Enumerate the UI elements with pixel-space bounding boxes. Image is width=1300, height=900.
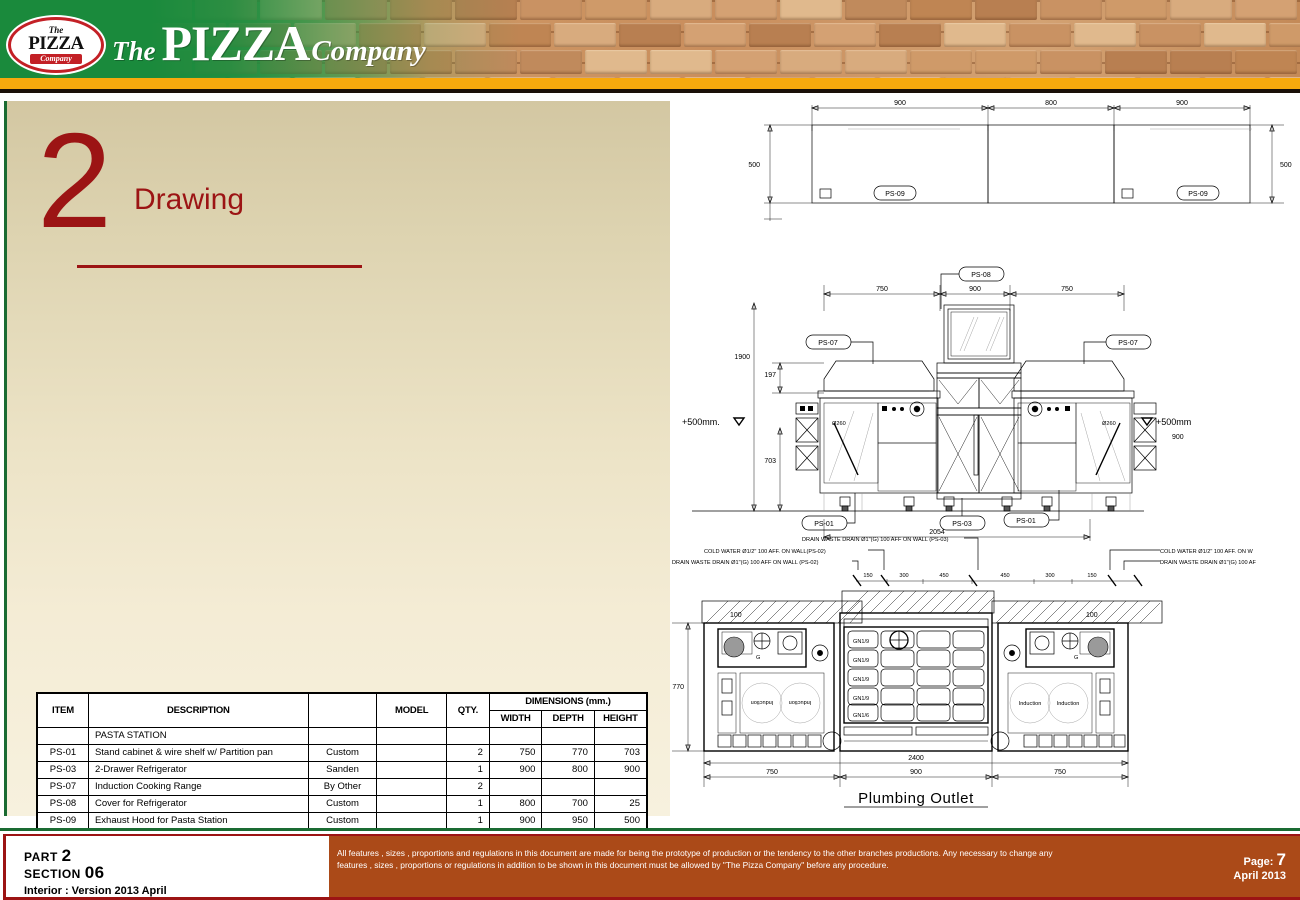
brick-tile bbox=[619, 23, 681, 47]
brick-tile bbox=[975, 50, 1037, 74]
technical-drawing-panel: 900 800 900 500 500 bbox=[672, 93, 1300, 828]
brick-tile bbox=[650, 50, 712, 74]
plan-induction-left-2: Induction bbox=[789, 699, 812, 705]
brand-wordmark: The PIZZA Company bbox=[112, 14, 426, 70]
col-model: MODEL bbox=[377, 693, 447, 727]
cell-height: 703 bbox=[594, 744, 647, 761]
plumb-dim-150-left: 150 bbox=[863, 573, 872, 579]
footer-section-value: 06 bbox=[85, 863, 105, 882]
table-row-group: PASTA STATION bbox=[37, 727, 647, 744]
elev-tag-ps01-right: PS-01 bbox=[1016, 518, 1036, 525]
cell-depth bbox=[542, 727, 595, 744]
logo-company-text: Company bbox=[30, 54, 82, 65]
col-depth: DEPTH bbox=[542, 710, 595, 727]
elev-level-right: +500mm bbox=[1156, 417, 1191, 427]
page-label: Page: bbox=[1244, 856, 1274, 868]
cell-item: PS-07 bbox=[37, 778, 88, 795]
page-header: The PIZZA Company The PIZZA Company bbox=[0, 0, 1300, 93]
cell-width: 900 bbox=[489, 812, 542, 829]
brick-tile bbox=[1204, 23, 1266, 47]
brick-tile bbox=[1139, 23, 1201, 47]
page-footer: PART 2 SECTION 06 Interior : Version 201… bbox=[0, 828, 1300, 900]
table-row: PS-09Exhaust Hood for Pasta StationCusto… bbox=[37, 812, 647, 829]
elev-tag-ps03: PS-03 bbox=[952, 521, 972, 528]
col-description: DESCRIPTION bbox=[88, 693, 308, 727]
hood-tag-ps09-right: PS-09 bbox=[1188, 191, 1208, 198]
wordmark-the: The bbox=[112, 36, 156, 67]
footer-disclaimer-bar: All features , sizes , proportions and r… bbox=[329, 834, 1300, 900]
cell-brand: By Other bbox=[308, 778, 377, 795]
brick-tile bbox=[684, 23, 746, 47]
note-drain-ps03: DRAIN WASTE DRAIN Ø1"(G) 100 AFF ON WALL… bbox=[802, 537, 949, 543]
plumb-dim-450-right: 450 bbox=[1000, 573, 1009, 579]
cell-depth: 700 bbox=[542, 795, 595, 812]
cell-width bbox=[489, 727, 542, 744]
cell-height: 25 bbox=[594, 795, 647, 812]
plan-induction-left-1: Induction bbox=[751, 699, 774, 705]
cell-item: PS-01 bbox=[37, 744, 88, 761]
col-dimensions: DIMENSIONS (mm.) bbox=[489, 693, 647, 710]
cell-width: 900 bbox=[489, 761, 542, 778]
brick-tile bbox=[554, 23, 616, 47]
brick-tile bbox=[650, 0, 712, 20]
hood-dim-900-right: 900 bbox=[1176, 100, 1188, 107]
cell-qty: 1 bbox=[447, 761, 490, 778]
elev-tag-ps07-left: PS-07 bbox=[818, 340, 838, 347]
elev-height-1900: 1900 bbox=[734, 354, 750, 361]
elev-overall-width: 2054 bbox=[929, 529, 945, 536]
cell-qty bbox=[447, 727, 490, 744]
cell-model bbox=[377, 727, 447, 744]
brick-tile bbox=[1105, 50, 1167, 74]
elev-dia-right: Ø260 bbox=[1102, 421, 1116, 427]
hood-tag-ps09-left: PS-09 bbox=[885, 191, 905, 198]
plan-overall-2400: 2400 bbox=[908, 755, 924, 762]
plan-wall-100-right: 100 bbox=[1086, 612, 1098, 619]
cell-depth: 950 bbox=[542, 812, 595, 829]
cell-description: 2-Drawer Refrigerator bbox=[88, 761, 308, 778]
brick-tile bbox=[814, 23, 876, 47]
elev-dia-left: Ø260 bbox=[832, 421, 846, 427]
brick-tile bbox=[780, 50, 842, 74]
hood-dim-800: 800 bbox=[1045, 100, 1057, 107]
plan-title: Plumbing Outlet bbox=[858, 790, 974, 807]
brick-tile bbox=[845, 50, 907, 74]
cell-item: PS-09 bbox=[37, 812, 88, 829]
cell-description: Exhaust Hood for Pasta Station bbox=[88, 812, 308, 829]
cell-height bbox=[594, 727, 647, 744]
table-row: PS-032-Drawer RefrigeratorSanden19008009… bbox=[37, 761, 647, 778]
col-item: ITEM bbox=[37, 693, 88, 727]
brick-tile bbox=[910, 0, 972, 20]
brick-tile bbox=[944, 23, 1006, 47]
cell-height: 900 bbox=[594, 761, 647, 778]
col-width: WIDTH bbox=[489, 710, 542, 727]
plan-pan-gn19-2: GN1/9 bbox=[853, 658, 869, 664]
brick-tile bbox=[520, 50, 582, 74]
brick-tile bbox=[910, 50, 972, 74]
table-row: PS-07Induction Cooking RangeBy Other2 bbox=[37, 778, 647, 795]
cell-width bbox=[489, 778, 542, 795]
table-row: PS-08Cover for RefrigeratorCustom1800700… bbox=[37, 795, 647, 812]
section-title: Drawing bbox=[134, 183, 244, 217]
cell-qty: 1 bbox=[447, 812, 490, 829]
header-orange-stripe bbox=[0, 78, 1300, 89]
cell-brand bbox=[308, 727, 377, 744]
plan-label-g-right: G bbox=[1074, 655, 1078, 661]
brick-tile bbox=[1074, 23, 1136, 47]
footer-section-label: SECTION bbox=[24, 867, 81, 881]
brick-tile bbox=[1040, 50, 1102, 74]
brick-tile bbox=[845, 0, 907, 20]
brick-tile bbox=[1235, 50, 1297, 74]
cell-brand: Custom bbox=[308, 744, 377, 761]
cell-item bbox=[37, 727, 88, 744]
cell-height: 500 bbox=[594, 812, 647, 829]
cell-width: 800 bbox=[489, 795, 542, 812]
hood-dim-900-left: 900 bbox=[894, 100, 906, 107]
col-height: HEIGHT bbox=[594, 710, 647, 727]
brick-tile bbox=[879, 23, 941, 47]
page-body: 2 Drawing ITEM DESCRIPTION MODEL QTY. DI… bbox=[0, 93, 1300, 828]
section-heading-block: 2 Drawing bbox=[37, 131, 367, 271]
cell-depth bbox=[542, 778, 595, 795]
cell-qty: 1 bbox=[447, 795, 490, 812]
plumbing-plan-drawing: 100 100 G Induction Induction bbox=[672, 591, 1162, 807]
note-drain-right: DRAIN WASTE DRAIN Ø1"(G) 100 AF bbox=[1160, 560, 1257, 566]
elev-height-197: 197 bbox=[764, 372, 776, 379]
footer-version: Interior : Version 2013 April bbox=[24, 885, 329, 897]
plan-pan-gn19-4: GN1/9 bbox=[853, 696, 869, 702]
plan-induction-right-1: Induction bbox=[1019, 701, 1042, 707]
cell-depth: 770 bbox=[542, 744, 595, 761]
cell-description: Cover for Refrigerator bbox=[88, 795, 308, 812]
elev-height-703: 703 bbox=[764, 458, 776, 465]
cell-model bbox=[377, 812, 447, 829]
cell-model bbox=[377, 761, 447, 778]
col-brand bbox=[308, 693, 377, 727]
brick-tile bbox=[1105, 0, 1167, 20]
cell-model bbox=[377, 744, 447, 761]
brick-tile bbox=[749, 23, 811, 47]
plumb-dim-150-right: 150 bbox=[1087, 573, 1096, 579]
brick-tile bbox=[1269, 23, 1300, 47]
brick-tile bbox=[520, 0, 582, 20]
elev-level-left: +500mm. bbox=[682, 417, 720, 427]
elev-dim-750-right: 750 bbox=[1061, 286, 1073, 293]
wordmark-company: Company bbox=[311, 35, 425, 68]
cell-model bbox=[377, 778, 447, 795]
plumb-dim-300-right: 300 bbox=[1045, 573, 1054, 579]
cell-item: PS-08 bbox=[37, 795, 88, 812]
table-header-row-1: ITEM DESCRIPTION MODEL QTY. DIMENSIONS (… bbox=[37, 693, 647, 710]
brick-tile bbox=[1170, 50, 1232, 74]
page-number: 7 bbox=[1277, 850, 1286, 869]
plan-dim-750-right: 750 bbox=[1054, 769, 1066, 776]
cell-group-label: PASTA STATION bbox=[88, 727, 308, 744]
footer-date: April 2013 bbox=[1233, 870, 1286, 882]
wordmark-pizza: PIZZA bbox=[162, 14, 310, 72]
hood-height-right: 500 bbox=[1280, 162, 1292, 169]
plumb-dim-300-left: 300 bbox=[899, 573, 908, 579]
plan-dim-900: 900 bbox=[910, 769, 922, 776]
cell-qty: 2 bbox=[447, 744, 490, 761]
plan-dim-750-left: 750 bbox=[766, 769, 778, 776]
brick-tile bbox=[585, 50, 647, 74]
plan-label-g-left: G bbox=[756, 655, 760, 661]
plan-induction-right-2: Induction bbox=[1057, 701, 1080, 707]
brick-tile bbox=[1170, 0, 1232, 20]
hood-plan-drawing: 900 800 900 500 500 bbox=[748, 100, 1291, 221]
elev-dim-900: 900 bbox=[969, 286, 981, 293]
hood-height-left: 500 bbox=[748, 162, 760, 169]
cell-model bbox=[377, 795, 447, 812]
cell-brand: Sanden bbox=[308, 761, 377, 778]
elev-tag-ps08: PS-08 bbox=[971, 272, 991, 279]
plan-pan-gn19-1: GN1/9 bbox=[853, 639, 869, 645]
cell-qty: 2 bbox=[447, 778, 490, 795]
cell-width: 750 bbox=[489, 744, 542, 761]
pizza-company-logo: The PIZZA Company bbox=[8, 17, 104, 73]
page-number-row: Page: 7 bbox=[1233, 850, 1286, 870]
cell-depth: 800 bbox=[542, 761, 595, 778]
plan-wall-100-left: 100 bbox=[730, 612, 742, 619]
brick-tile bbox=[585, 0, 647, 20]
plumb-dim-450-left: 450 bbox=[939, 573, 948, 579]
brick-tile bbox=[780, 0, 842, 20]
cell-brand: Custom bbox=[308, 812, 377, 829]
cell-brand: Custom bbox=[308, 795, 377, 812]
note-coldwater-right: COLD WATER Ø1/2" 100 AFF. ON W bbox=[1160, 549, 1253, 555]
cell-item: PS-03 bbox=[37, 761, 88, 778]
plan-pan-gn16: GN1/6 bbox=[853, 713, 869, 719]
disclaimer-text: All features , sizes , proportions and r… bbox=[337, 847, 1077, 871]
page-info: Page: 7 April 2013 bbox=[1233, 850, 1286, 882]
logo-pizza-text: PIZZA bbox=[28, 34, 84, 53]
brick-tile bbox=[1009, 23, 1071, 47]
cell-description: Stand cabinet & wire shelf w/ Partition … bbox=[88, 744, 308, 761]
plan-pan-gn19-3: GN1/9 bbox=[853, 677, 869, 683]
note-drain-ps02: DRAIN WASTE DRAIN Ø1"(G) 100 AFF ON WALL… bbox=[672, 560, 819, 566]
elevation-drawing: 750 900 750 PS-08 1900 197 703 bbox=[682, 267, 1191, 541]
cell-height bbox=[594, 778, 647, 795]
elev-tag-ps07-right: PS-07 bbox=[1118, 340, 1138, 347]
elev-dim-750-left: 750 bbox=[876, 286, 888, 293]
elev-level-right-dim: 900 bbox=[1172, 434, 1184, 441]
note-coldwater-ps02: COLD WATER Ø1/2" 100 AFF. ON WALL(PS-02) bbox=[704, 549, 826, 555]
footer-part-section-block: PART 2 SECTION 06 Interior : Version 201… bbox=[3, 834, 329, 900]
brick-tile bbox=[1235, 0, 1297, 20]
title-underline bbox=[77, 265, 362, 268]
plan-depth-770: 770 bbox=[672, 684, 684, 691]
footer-section-row: SECTION 06 bbox=[24, 863, 329, 883]
footer-part-label: PART bbox=[24, 850, 58, 864]
table-row: PS-01Stand cabinet & wire shelf w/ Parti… bbox=[37, 744, 647, 761]
section-number: 2 bbox=[37, 113, 112, 248]
plumbing-notes: DRAIN WASTE DRAIN Ø1"(G) 100 AFF ON WALL… bbox=[672, 537, 1257, 586]
col-qty: QTY. bbox=[447, 693, 490, 727]
brick-tile bbox=[975, 0, 1037, 20]
brick-tile bbox=[1040, 0, 1102, 20]
table-head: ITEM DESCRIPTION MODEL QTY. DIMENSIONS (… bbox=[37, 693, 647, 727]
brick-tile bbox=[715, 50, 777, 74]
brick-tile bbox=[715, 0, 777, 20]
cell-description: Induction Cooking Range bbox=[88, 778, 308, 795]
